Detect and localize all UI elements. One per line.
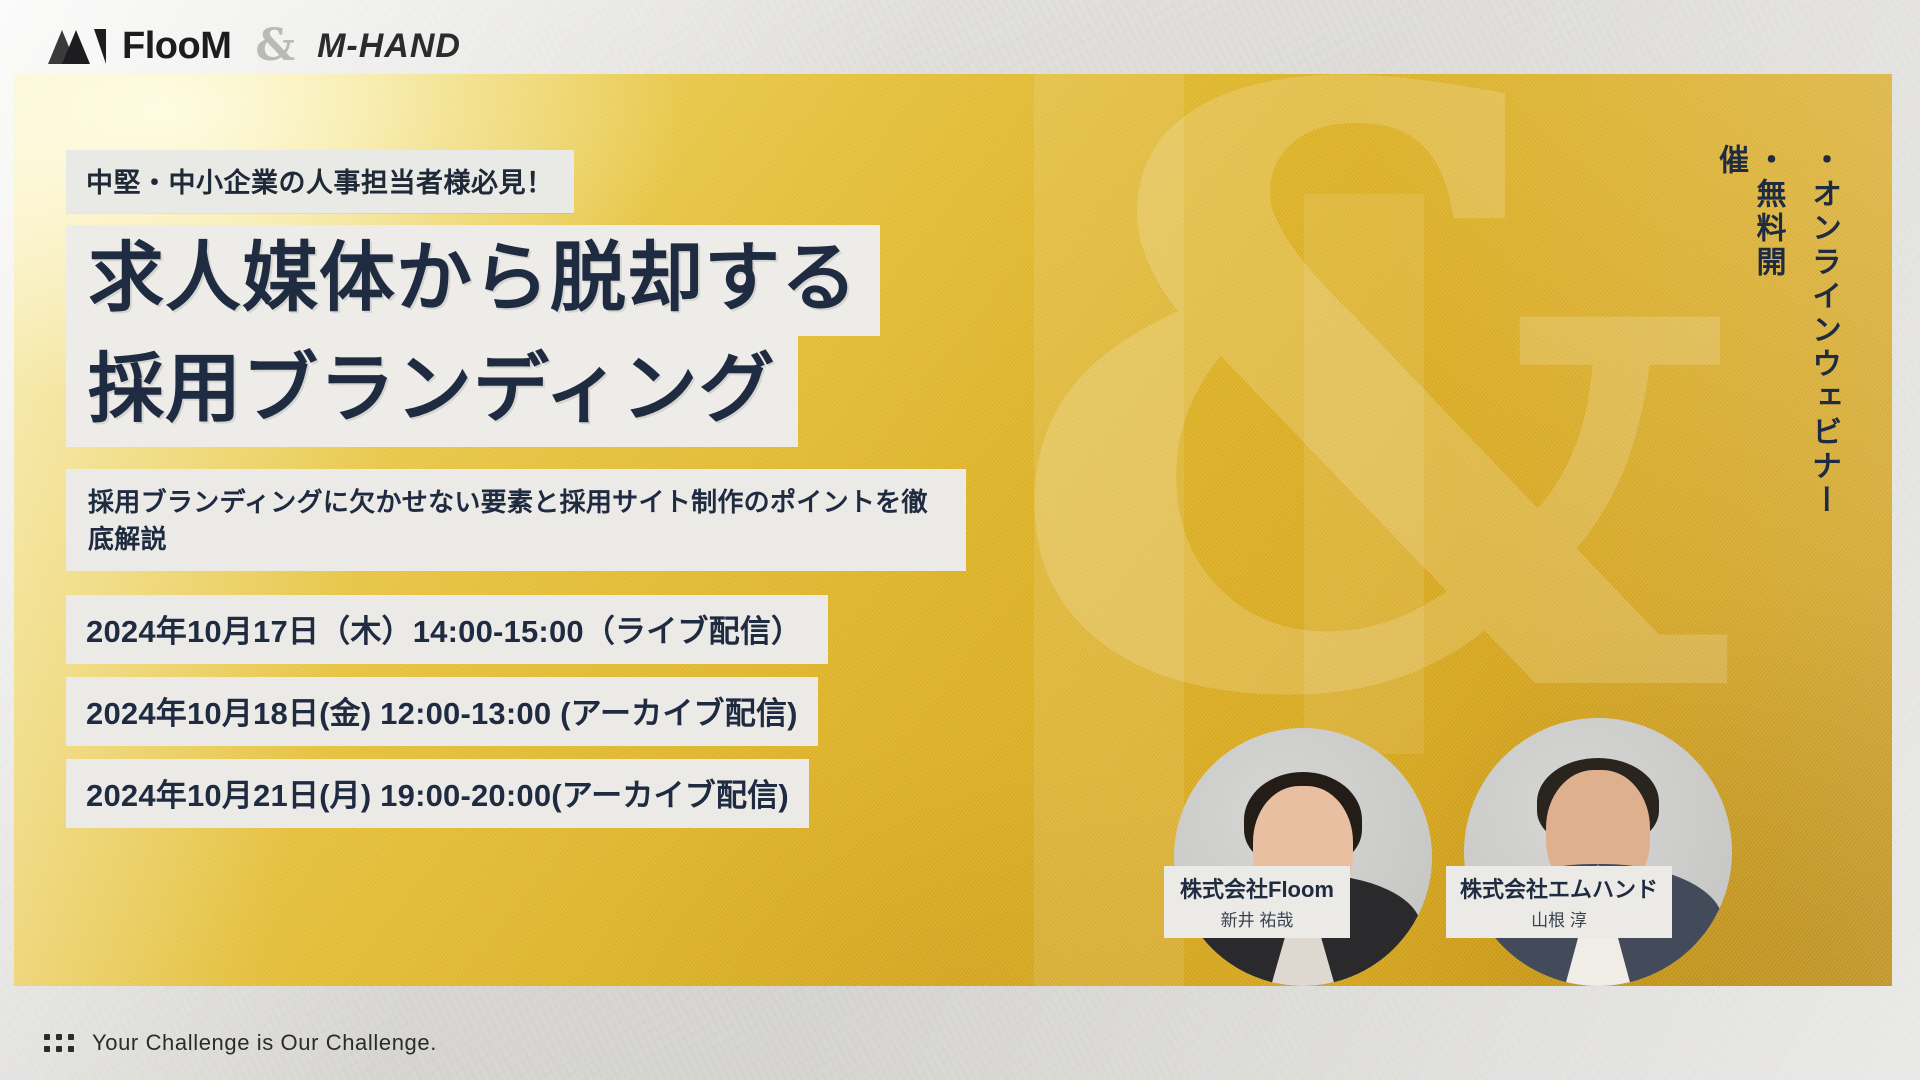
floom-logo-icon — [46, 26, 108, 66]
speaker-2-avatar — [1464, 718, 1732, 986]
speaker-1-name-plate: 株式会社Floom 新井 祐哉 — [1164, 866, 1350, 938]
speaker-2-company: 株式会社エムハンド — [1460, 872, 1658, 904]
schedule-list: 2024年10月17日（木）14:00-15:00（ライブ配信） 2024年10… — [66, 595, 966, 841]
lead-description: 採用ブランディングに欠かせない要素と採用サイト制作のポイントを徹底解説 — [66, 469, 966, 571]
eyebrow-badge: 中堅・中小企業の人事担当者様必見！ — [66, 150, 574, 213]
headline-line-1: 求人媒体から脱却する — [66, 225, 880, 336]
badge-online-webinar: ・オンラインウェビナー — [1799, 136, 1849, 526]
speaker-1-company: 株式会社Floom — [1178, 872, 1336, 904]
speaker-1-name: 新井 祐哉 — [1178, 906, 1336, 931]
footer: Your Challenge is Our Challenge. — [44, 1030, 437, 1056]
headline: 求人媒体から脱却する 採用ブランディング — [66, 225, 966, 447]
badge-free-offering: ・無料開催 — [1706, 136, 1793, 306]
speaker-2: 株式会社エムハンド 山根 淳 — [1464, 718, 1732, 986]
schedule-item-2: 2024年10月18日(金) 12:00-13:00 (アーカイブ配信) — [66, 677, 818, 746]
speaker-2-name-plate: 株式会社エムハンド 山根 淳 — [1446, 866, 1672, 938]
floom-wordmark: FlooM — [122, 25, 231, 68]
speaker-1: 株式会社Floom 新井 祐哉 — [1174, 728, 1432, 986]
schedule-item-1: 2024年10月17日（木）14:00-15:00（ライブ配信） — [66, 595, 828, 664]
dot-grid-icon — [44, 1034, 74, 1052]
schedule-item-3: 2024年10月21日(月) 19:00-20:00(アーカイブ配信) — [66, 759, 809, 828]
vertical-badges: ・無料開催 ・オンラインウェビナー — [1706, 136, 1849, 526]
speaker-2-name: 山根 淳 — [1460, 906, 1658, 931]
gold-hero-panel: & 中堅・中小企業の人事担当者様必見！ 求人媒体から脱却する 採用ブランディング… — [14, 74, 1892, 986]
mhand-wordmark: M-HAND — [317, 27, 461, 66]
logo-separator-ampersand: & — [255, 24, 295, 68]
hero-content: 中堅・中小企業の人事担当者様必見！ 求人媒体から脱却する 採用ブランディング 採… — [66, 150, 966, 841]
speaker-group: 株式会社Floom 新井 祐哉 株式会社エムハンド 山根 淳 — [1174, 656, 1874, 986]
speaker-1-avatar — [1174, 728, 1432, 986]
headline-line-2: 採用ブランディング — [66, 336, 798, 447]
footer-tagline: Your Challenge is Our Challenge. — [92, 1030, 437, 1056]
